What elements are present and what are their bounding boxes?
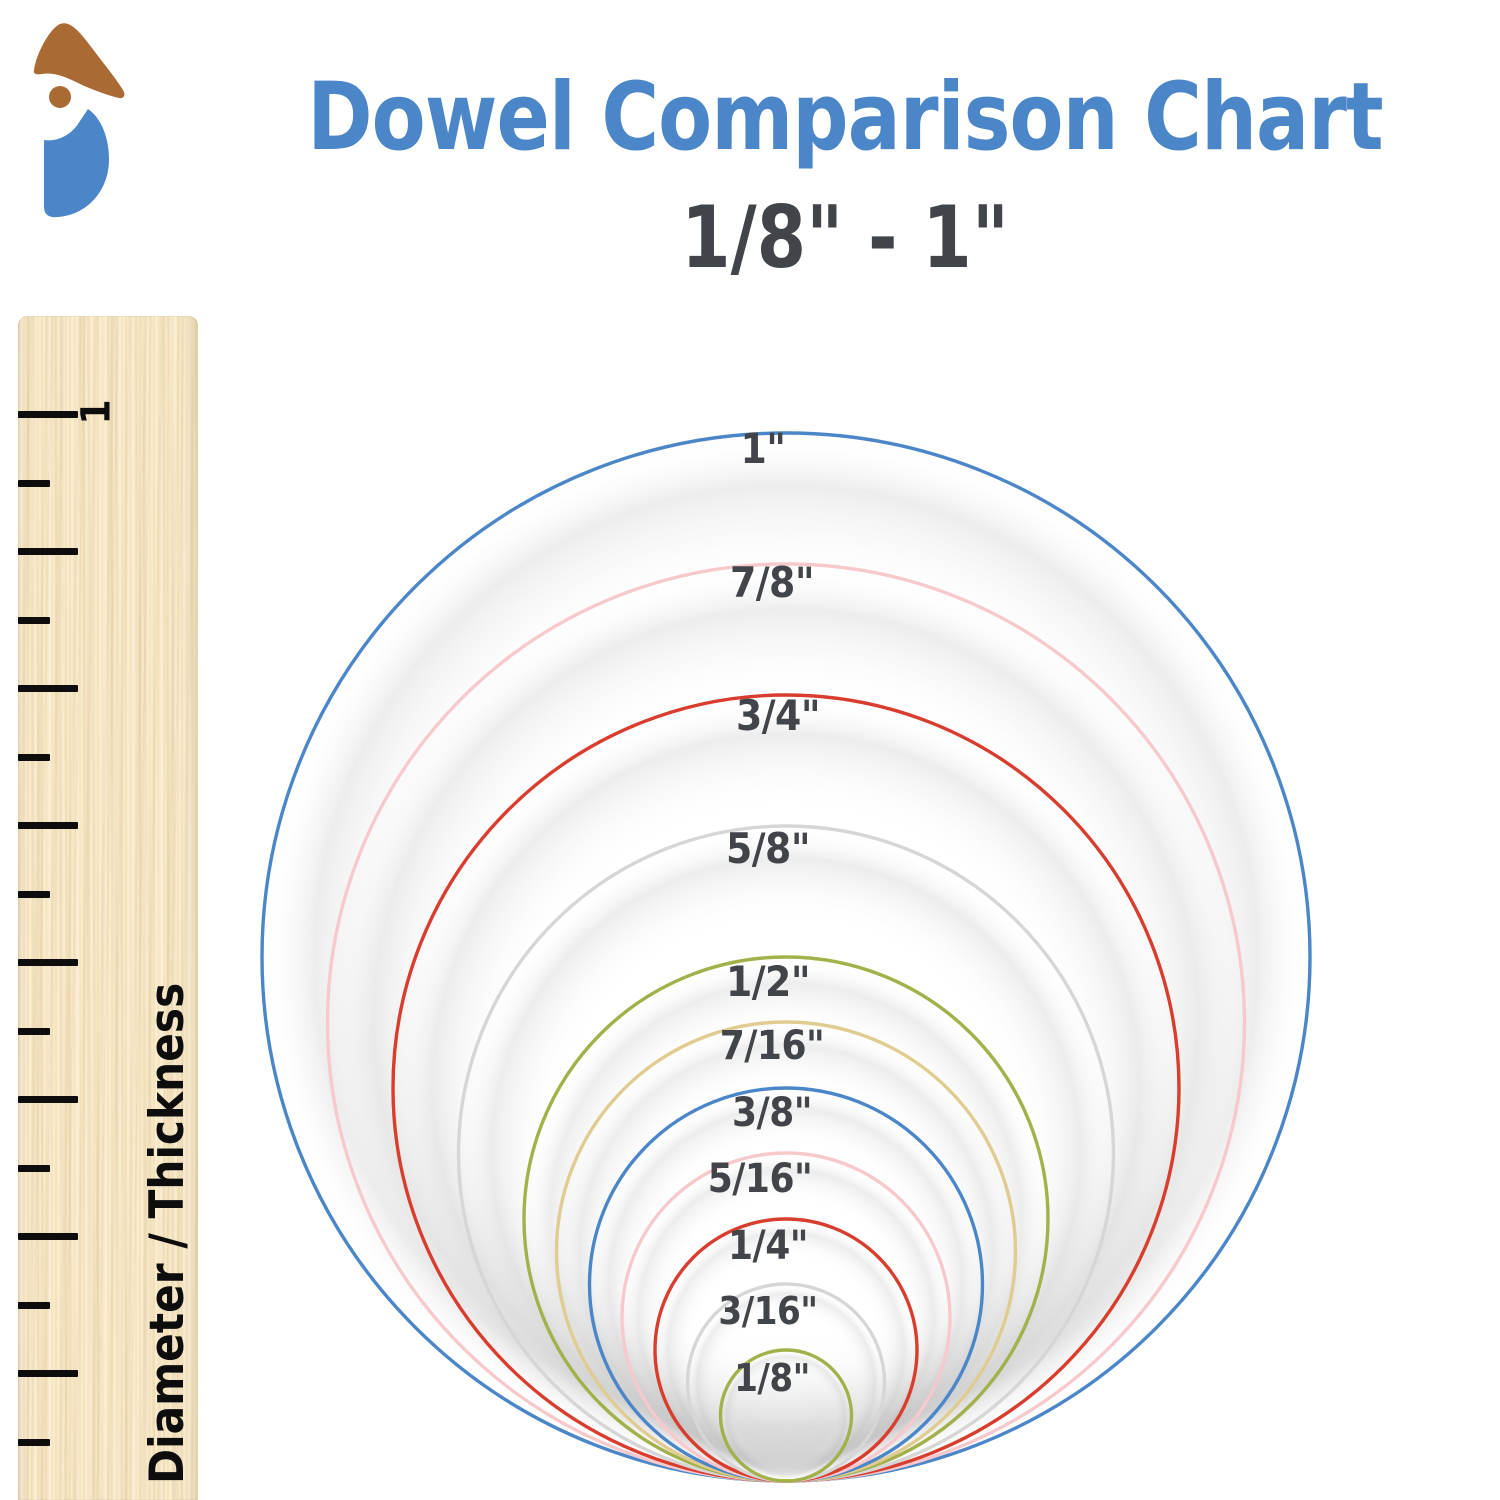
dowel-size-label: 7/16" [720, 1023, 825, 1069]
dowel-size-label: 1/2" [726, 957, 810, 1006]
dowel-size-label: 3/4" [736, 691, 820, 740]
dowel-size-label: 3/16" [718, 1289, 817, 1333]
dowel-size-label: 5/16" [708, 1156, 813, 1202]
dowel-size-label: 1/8" [734, 1356, 810, 1400]
dowel-size-label: 7/8" [730, 558, 814, 607]
dowel-size-label: 1" [741, 424, 786, 473]
dowel-size-label: 3/8" [732, 1090, 812, 1136]
chart-canvas: Dowel Comparison Chart 1/8" - 1" 1 Diame… [0, 0, 1500, 1500]
dowel-size-label: 1/4" [728, 1223, 808, 1269]
dowel-size-label: 5/8" [726, 824, 810, 873]
dowel-circle-group [0, 0, 1500, 1500]
